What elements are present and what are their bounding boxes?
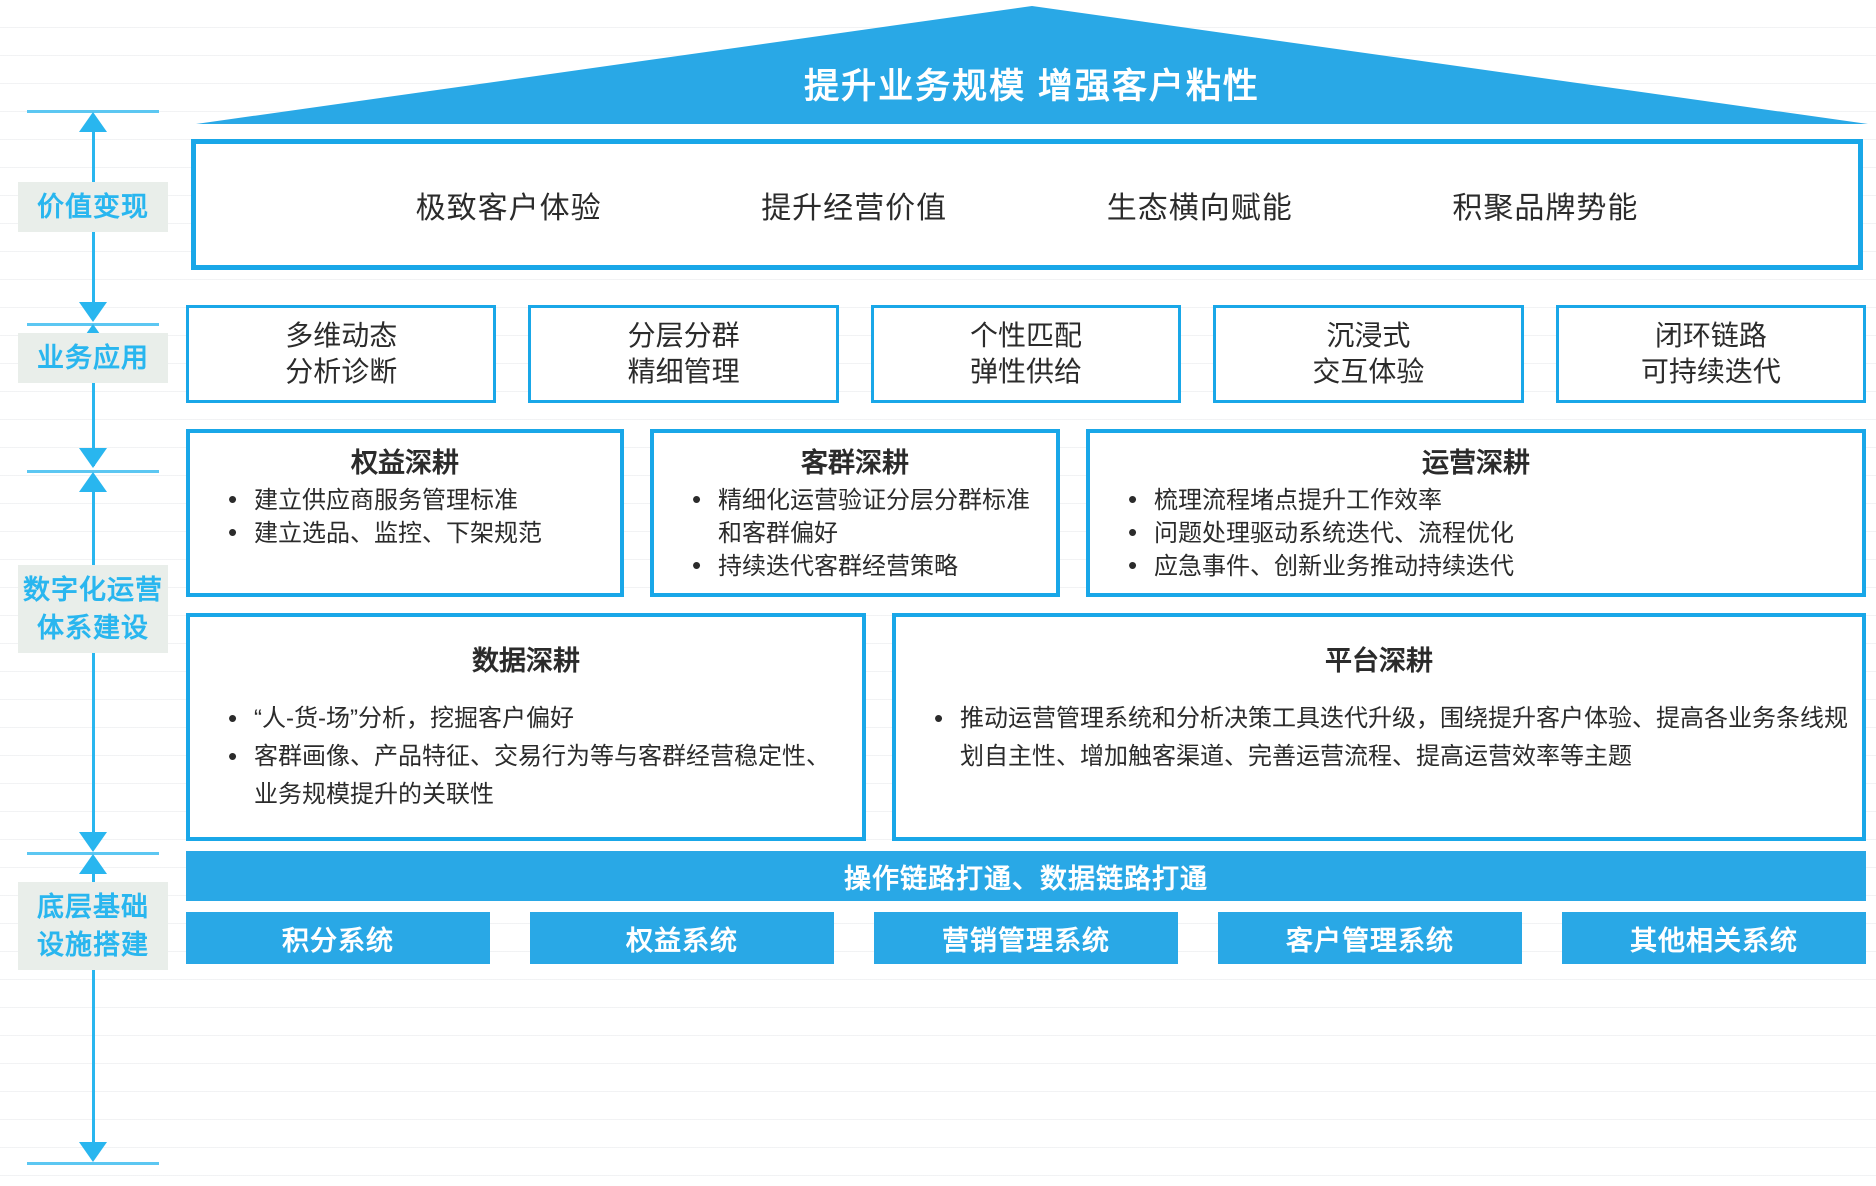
deep-cultivation-row-2: 数据深耕 “人-货-场”分析，挖掘客户偏好 客群画像、产品特征、交易行为等与客群… <box>186 613 1866 841</box>
application-box: 个性匹配 弹性供给 <box>871 305 1181 403</box>
deep-box-data: 数据深耕 “人-货-场”分析，挖掘客户偏好 客群画像、产品特征、交易行为等与客群… <box>186 613 866 841</box>
deep-box-operations: 运营深耕 梳理流程堵点提升工作效率 问题处理驱动系统迭代、流程优化 应急事件、创… <box>1086 429 1866 597</box>
rail-label-text: 业务应用 <box>37 343 149 373</box>
deep-box-bullet-list: 精细化运营验证分层分群标准和客群偏好 持续迭代客群经营策略 <box>664 484 1046 583</box>
application-box-line1: 分层分群 <box>628 318 740 354</box>
value-item: 生态横向赋能 <box>1107 183 1293 227</box>
bullet-item: 梳理流程堵点提升工作效率 <box>1128 484 1848 517</box>
deep-cultivation-row-1: 权益深耕 建立供应商服务管理标准 建立选品、监控、下架规范 客群深耕 精细化运营… <box>186 429 1866 597</box>
rail-label-value-realization: 价值变现 <box>18 182 168 232</box>
rail-arrow-up-4 <box>79 854 107 874</box>
rail-arrow-down-4 <box>79 1142 107 1162</box>
bullet-item: 问题处理驱动系统迭代、流程优化 <box>1128 517 1848 550</box>
application-box: 闭环链路 可持续迭代 <box>1556 305 1866 403</box>
deep-box-bullet-list: 建立供应商服务管理标准 建立选品、监控、下架规范 <box>200 484 610 550</box>
value-item: 积聚品牌势能 <box>1452 183 1638 227</box>
rail-label-text: 价值变现 <box>37 192 149 222</box>
deep-box-bullet-list: “人-货-场”分析，挖掘客户偏好 客群画像、产品特征、交易行为等与客群经营稳定性… <box>200 700 852 814</box>
application-box-line2: 弹性供给 <box>970 354 1082 390</box>
deep-box-title: 客群深耕 <box>664 441 1046 480</box>
left-axis-rail: 价值变现 业务应用 数字化运营 体系建设 底层基础 设施搭建 <box>18 110 168 1170</box>
system-box: 客户管理系统 <box>1218 912 1522 964</box>
application-box-line2: 可持续迭代 <box>1641 354 1781 390</box>
rail-label-infrastructure: 底层基础 设施搭建 <box>18 882 168 970</box>
application-layer-row: 多维动态 分析诊断 分层分群 精细管理 个性匹配 弹性供给 沉浸式 交互体验 闭… <box>186 305 1866 403</box>
bullet-item: 推动运营管理系统和分析决策工具迭代升级，围绕提升客户体验、提高各业务条线规划自主… <box>934 700 1848 776</box>
application-box-line1: 闭环链路 <box>1655 318 1767 354</box>
application-box-line2: 分析诊断 <box>285 354 397 390</box>
bullet-item: 持续迭代客群经营策略 <box>692 550 1042 583</box>
application-box: 分层分群 精细管理 <box>528 305 838 403</box>
application-box-line1: 个性匹配 <box>970 318 1082 354</box>
value-realization-panel: 极致客户体验 提升经营价值 生态横向赋能 积聚品牌势能 <box>191 139 1863 270</box>
bullet-item: 应急事件、创新业务推动持续迭代 <box>1128 550 1848 583</box>
bullet-item: 建立选品、监控、下架规范 <box>228 517 606 550</box>
system-box: 其他相关系统 <box>1562 912 1866 964</box>
deep-box-title: 平台深耕 <box>906 639 1852 678</box>
application-box: 沉浸式 交互体验 <box>1213 305 1523 403</box>
deep-box-title: 运营深耕 <box>1100 441 1852 480</box>
application-box: 多维动态 分析诊断 <box>186 305 496 403</box>
roof-banner: 提升业务规模 增强客户粘性 <box>196 6 1868 126</box>
system-box: 积分系统 <box>186 912 490 964</box>
deep-box-title: 数据深耕 <box>200 639 852 678</box>
rail-label-text-line2: 体系建设 <box>18 609 168 647</box>
rail-label-text-line2: 设施搭建 <box>18 926 168 964</box>
bullet-item: 建立供应商服务管理标准 <box>228 484 606 517</box>
foundation-systems-row: 积分系统 权益系统 营销管理系统 客户管理系统 其他相关系统 <box>186 912 1866 964</box>
value-item: 极致客户体验 <box>416 183 602 227</box>
bullet-item: 客群画像、产品特征、交易行为等与客群经营稳定性、业务规模提升的关联性 <box>228 738 848 814</box>
bullet-item: 精细化运营验证分层分群标准和客群偏好 <box>692 484 1042 550</box>
application-box-line1: 多维动态 <box>285 318 397 354</box>
deep-box-bullet-list: 推动运营管理系统和分析决策工具迭代升级，围绕提升客户体验、提高各业务条线规划自主… <box>906 700 1852 776</box>
diagram-canvas: 价值变现 业务应用 数字化运营 体系建设 底层基础 设施搭建 提升业务规模 增强… <box>0 0 1876 1186</box>
system-box: 营销管理系统 <box>874 912 1178 964</box>
application-box-line2: 交互体验 <box>1312 354 1424 390</box>
foundation-link-bar: 操作链路打通、数据链路打通 <box>186 851 1866 901</box>
deep-box-bullet-list: 梳理流程堵点提升工作效率 问题处理驱动系统迭代、流程优化 应急事件、创新业务推动… <box>1100 484 1852 583</box>
deep-box-rights: 权益深耕 建立供应商服务管理标准 建立选品、监控、下架规范 <box>186 429 624 597</box>
deep-box-platform: 平台深耕 推动运营管理系统和分析决策工具迭代升级，围绕提升客户体验、提高各业务条… <box>892 613 1866 841</box>
rail-label-business-application: 业务应用 <box>18 333 168 383</box>
bullet-item: “人-货-场”分析，挖掘客户偏好 <box>228 700 848 738</box>
rail-arrow-down-3 <box>79 832 107 852</box>
system-box: 权益系统 <box>530 912 834 964</box>
rail-arrow-up-1 <box>79 112 107 132</box>
application-box-line1: 沉浸式 <box>1326 318 1410 354</box>
rail-label-text-line1: 数字化运营 <box>18 571 168 609</box>
rail-line-3 <box>92 476 95 848</box>
roof-title: 提升业务规模 增强客户粘性 <box>196 58 1868 109</box>
deep-box-customer-group: 客群深耕 精细化运营验证分层分群标准和客群偏好 持续迭代客群经营策略 <box>650 429 1060 597</box>
value-item: 提升经营价值 <box>761 183 947 227</box>
rail-label-text-line1: 底层基础 <box>18 888 168 926</box>
application-box-line2: 精细管理 <box>628 354 740 390</box>
rail-arrow-up-3 <box>79 472 107 492</box>
rail-tick-bottom <box>27 1162 159 1165</box>
rail-arrow-down-1 <box>79 302 107 322</box>
rail-label-digital-operation: 数字化运营 体系建设 <box>18 565 168 653</box>
rail-arrow-down-2 <box>79 448 107 468</box>
deep-box-title: 权益深耕 <box>200 441 610 480</box>
